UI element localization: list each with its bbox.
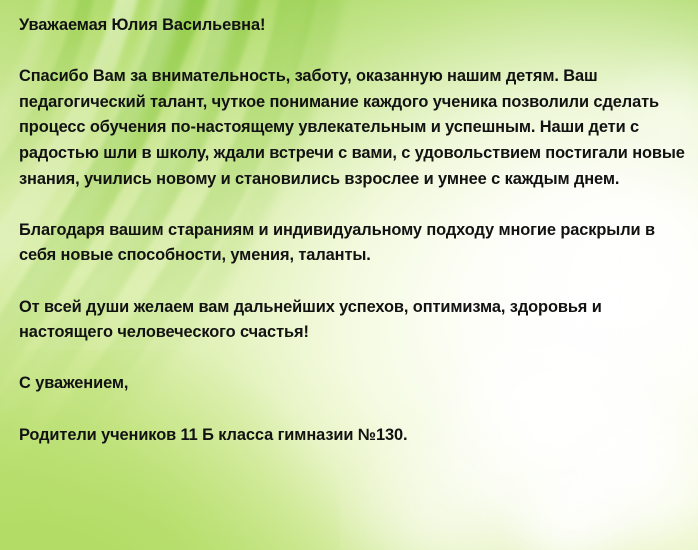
closing: С уважением, [19, 371, 685, 397]
letter-card: Уважаемая Юлия Васильевна! Спасибо Вам з… [0, 0, 698, 550]
signature: Родители учеников 11 Б класса гимназии №… [19, 423, 685, 449]
bokeh-blob [505, 455, 635, 550]
salutation: Уважаемая Юлия Васильевна! [19, 13, 685, 39]
paragraph-2: Благодаря вашим стараниям и индивидуальн… [19, 218, 685, 269]
paragraph-1: Спасибо Вам за внимательность, заботу, о… [19, 64, 685, 192]
letter-body: Уважаемая Юлия Васильевна! Спасибо Вам з… [19, 13, 685, 448]
paragraph-3: От всей души желаем вам дальнейших успех… [19, 295, 685, 346]
